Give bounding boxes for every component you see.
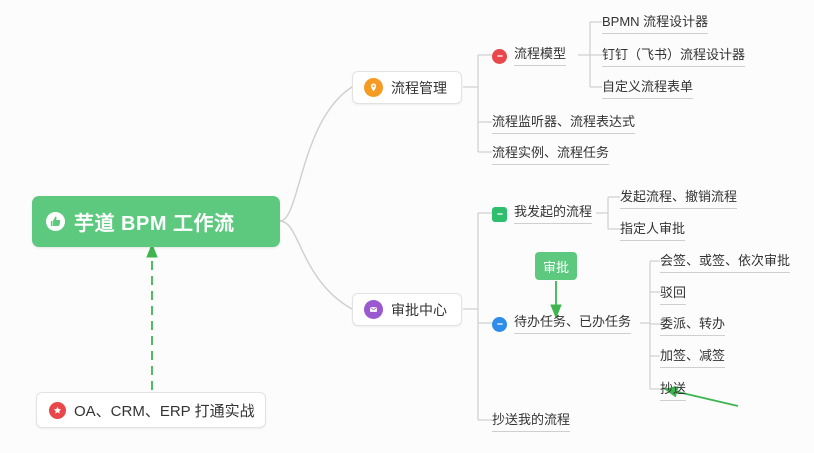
envelope-icon bbox=[364, 300, 383, 319]
node-oa-crm-erp[interactable]: OA、CRM、ERP 打通实战 bbox=[36, 392, 266, 428]
node-approval-center-label: 审批中心 bbox=[391, 300, 447, 320]
node-approval-center[interactable]: 审批中心 bbox=[352, 293, 462, 326]
node-process-model-label: 流程模型 bbox=[514, 46, 566, 66]
minus-square-icon bbox=[492, 207, 507, 222]
root-label: 芋道 BPM 工作流 bbox=[74, 207, 235, 236]
minus-circle-blue-icon bbox=[492, 317, 507, 332]
node-countersign-label: 会签、或签、依次审批 bbox=[660, 253, 790, 273]
node-my-started-process[interactable]: 我发起的流程 bbox=[492, 204, 592, 224]
approve-badge-label: 审批 bbox=[543, 257, 569, 276]
node-start-cancel-process-label: 发起流程、撤销流程 bbox=[620, 189, 737, 209]
node-listener-expression-label: 流程监听器、流程表达式 bbox=[492, 114, 635, 134]
node-instance-task[interactable]: 流程实例、流程任务 bbox=[492, 144, 609, 165]
node-instance-task-label: 流程实例、流程任务 bbox=[492, 145, 609, 165]
node-custom-form[interactable]: 自定义流程表单 bbox=[602, 78, 693, 99]
node-custom-form-label: 自定义流程表单 bbox=[602, 79, 693, 99]
star-circle-icon bbox=[49, 402, 66, 419]
node-todo-done-tasks-label: 待办任务、已办任务 bbox=[514, 314, 631, 334]
node-assign-approver[interactable]: 指定人审批 bbox=[620, 220, 685, 241]
node-delegate-transfer[interactable]: 委派、转办 bbox=[660, 315, 725, 336]
location-pin-icon bbox=[364, 78, 383, 97]
node-bpmn-designer-label: BPMN 流程设计器 bbox=[602, 14, 708, 34]
minus-circle-icon bbox=[492, 49, 507, 64]
node-assign-approver-label: 指定人审批 bbox=[620, 221, 685, 241]
node-reject[interactable]: 驳回 bbox=[660, 284, 686, 305]
node-process-model[interactable]: 流程模型 bbox=[492, 46, 566, 66]
node-cc-to-me-label: 抄送我的流程 bbox=[492, 412, 570, 432]
node-countersign[interactable]: 会签、或签、依次审批 bbox=[660, 252, 790, 273]
node-todo-done-tasks[interactable]: 待办任务、已办任务 bbox=[492, 314, 631, 334]
node-my-started-process-label: 我发起的流程 bbox=[514, 204, 592, 224]
node-flow-management[interactable]: 流程管理 bbox=[352, 71, 462, 104]
node-add-remove-sign[interactable]: 加签、减签 bbox=[660, 347, 725, 368]
node-listener-expression[interactable]: 流程监听器、流程表达式 bbox=[492, 113, 635, 134]
node-reject-label: 驳回 bbox=[660, 285, 686, 305]
node-delegate-transfer-label: 委派、转办 bbox=[660, 316, 725, 336]
link-root-to-flow-mgmt bbox=[280, 87, 352, 221]
node-dingtalk-designer-label: 钉钉（飞书）流程设计器 bbox=[602, 47, 745, 67]
node-flow-management-label: 流程管理 bbox=[391, 78, 447, 98]
thumbs-up-icon bbox=[46, 212, 65, 231]
node-cc-to-me[interactable]: 抄送我的流程 bbox=[492, 411, 570, 432]
mindmap-canvas: 芋道 BPM 工作流 流程管理 流程模型 BPMN 流程设计器 钉钉（飞书）流程… bbox=[0, 0, 814, 453]
node-cc-label: 抄送 bbox=[660, 381, 686, 401]
node-add-remove-sign-label: 加签、减签 bbox=[660, 348, 725, 368]
node-dingtalk-designer[interactable]: 钉钉（飞书）流程设计器 bbox=[602, 46, 745, 67]
link-root-to-approval-center bbox=[280, 221, 352, 309]
root-node[interactable]: 芋道 BPM 工作流 bbox=[32, 196, 280, 247]
approve-badge: 审批 bbox=[535, 252, 577, 280]
node-bpmn-designer[interactable]: BPMN 流程设计器 bbox=[602, 13, 708, 34]
node-start-cancel-process[interactable]: 发起流程、撤销流程 bbox=[620, 188, 737, 209]
node-cc[interactable]: 抄送 bbox=[660, 380, 686, 401]
node-oa-crm-erp-label: OA、CRM、ERP 打通实战 bbox=[74, 400, 255, 421]
